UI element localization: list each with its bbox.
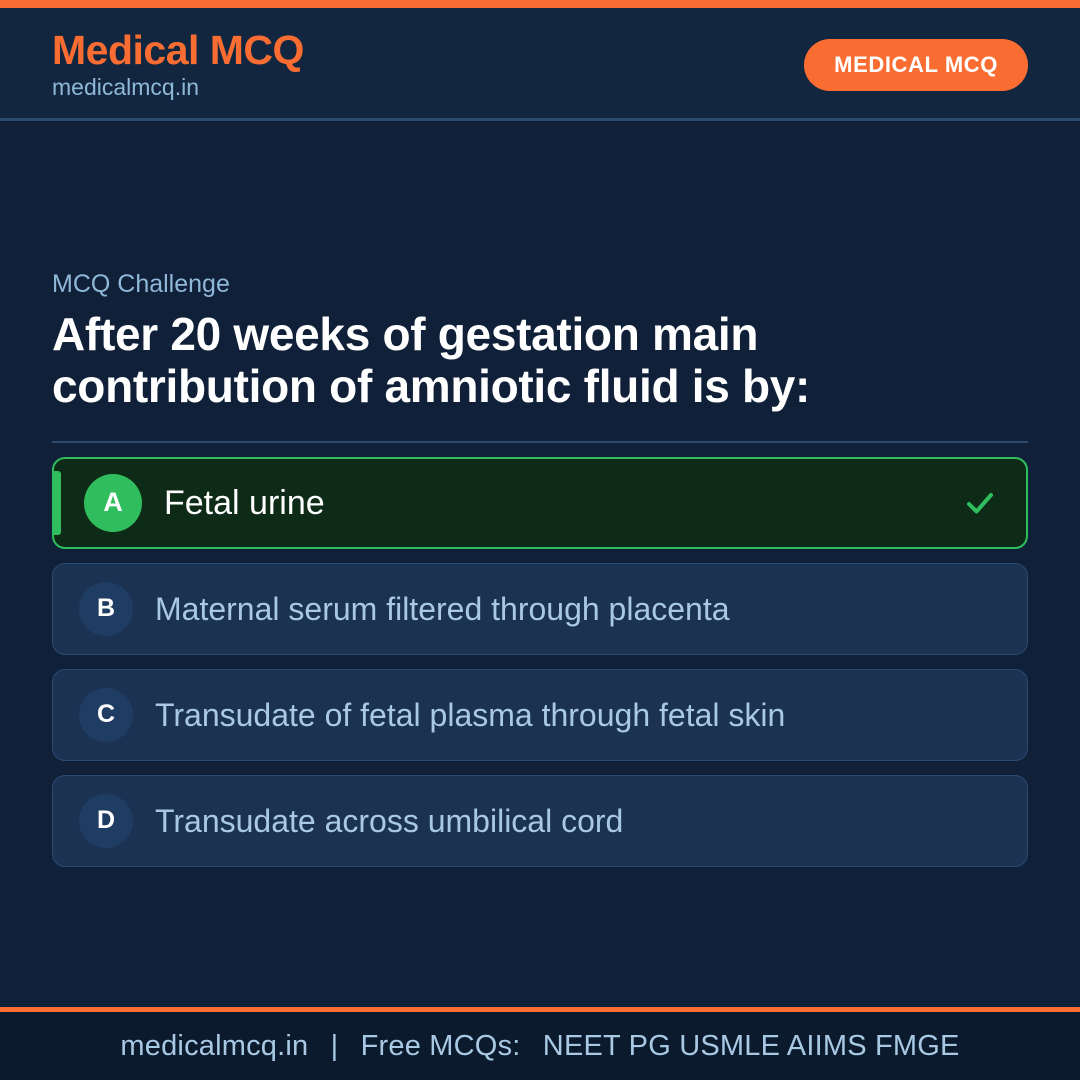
eyebrow-label: MCQ Challenge xyxy=(52,269,1028,299)
brand-title: Medical MCQ xyxy=(52,28,304,72)
options-list: A Fetal urine B Maternal serum filtered … xyxy=(52,457,1028,867)
footer-text: medicalmcq.in | Free MCQs: NEET PG USMLE… xyxy=(120,1030,959,1063)
option-c[interactable]: C Transudate of fetal plasma through fet… xyxy=(52,669,1028,761)
footer-exams-label: Free MCQs: xyxy=(361,1030,521,1062)
option-b-text: Maternal serum filtered through placenta xyxy=(155,590,1001,628)
page-header: Medical MCQ medicalmcq.in MEDICAL MCQ xyxy=(0,8,1080,121)
option-a-text: Fetal urine xyxy=(164,483,944,524)
option-d[interactable]: D Transudate across umbilical cord xyxy=(52,775,1028,867)
main-content: MCQ Challenge After 20 weeks of gestatio… xyxy=(0,121,1080,1007)
check-icon xyxy=(960,483,1000,523)
mcq-card: Medical MCQ medicalmcq.in MEDICAL MCQ MC… xyxy=(0,0,1080,1080)
option-d-text: Transudate across umbilical cord xyxy=(155,802,1001,840)
brand: Medical MCQ medicalmcq.in xyxy=(52,28,304,102)
option-d-letter-badge: D xyxy=(79,794,133,848)
option-c-text: Transudate of fetal plasma through fetal… xyxy=(155,696,1001,734)
option-c-letter-badge: C xyxy=(79,688,133,742)
page-footer: medicalmcq.in | Free MCQs: NEET PG USMLE… xyxy=(0,1007,1080,1080)
question-divider xyxy=(52,441,1028,443)
brand-subtitle: medicalmcq.in xyxy=(52,74,304,102)
option-b-letter-badge: B xyxy=(79,582,133,636)
option-a[interactable]: A Fetal urine xyxy=(52,457,1028,549)
option-b[interactable]: B Maternal serum filtered through placen… xyxy=(52,563,1028,655)
footer-site: medicalmcq.in xyxy=(120,1030,308,1062)
header-badge: MEDICAL MCQ xyxy=(804,39,1028,91)
footer-separator: | xyxy=(317,1030,353,1062)
question-text: After 20 weeks of gestation main contrib… xyxy=(52,309,1028,413)
top-accent-bar xyxy=(0,0,1080,8)
option-a-letter-badge: A xyxy=(84,474,142,532)
footer-exams: NEET PG USMLE AIIMS FMGE xyxy=(529,1030,960,1062)
